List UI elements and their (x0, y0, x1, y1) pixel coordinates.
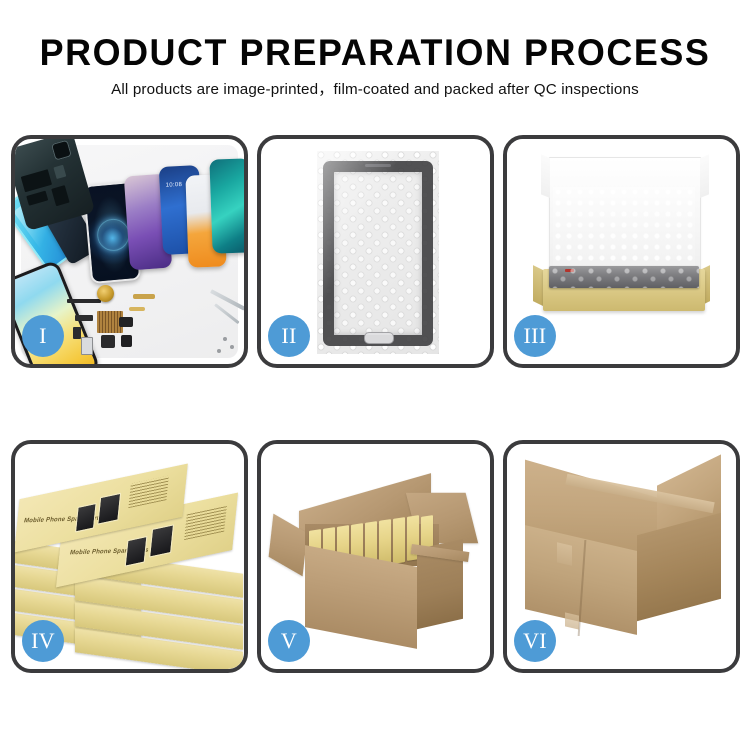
carton-tape-tab-left (557, 542, 572, 565)
step-3-image: III (507, 139, 736, 364)
packed-box-6 (379, 519, 391, 566)
page-subtitle: All products are image-printed，film-coat… (0, 82, 750, 97)
part-flex-cable-1 (67, 299, 101, 303)
part-vibrator (121, 335, 132, 347)
part-connector-b (73, 327, 81, 339)
process-steps-grid: 10:08 (11, 135, 739, 673)
part-connector-a (75, 315, 93, 321)
step-numeral-3: III (524, 325, 547, 347)
step-badge-4: IV (22, 620, 64, 662)
part-screw-1 (223, 337, 227, 341)
carton-tape-tab-bottom (565, 612, 579, 629)
step-6-image: VI (507, 444, 736, 669)
part-button-flex (133, 294, 155, 299)
packed-box-7 (393, 517, 405, 564)
step-badge-2: II (268, 315, 310, 357)
part-red-marker (565, 269, 574, 272)
step-2-image: II (261, 139, 490, 364)
step-1-image: 10:08 (15, 139, 244, 364)
step-numeral-1: I (39, 325, 47, 347)
kraft-box-window-front-1 (125, 536, 148, 567)
kraft-box-window-top-1 (75, 503, 97, 533)
part-coil (97, 285, 114, 302)
part-camera-module (119, 317, 133, 327)
step-panel-1[interactable]: 10:08 (11, 135, 248, 368)
part-side-key (129, 307, 145, 311)
bubble-wrap-sheet (317, 151, 439, 354)
step-numeral-4: IV (31, 630, 55, 652)
foam-liner (553, 187, 695, 271)
step-panel-3[interactable]: III (503, 135, 740, 368)
step-panel-2[interactable]: II (257, 135, 494, 368)
step-badge-5: V (268, 620, 310, 662)
phone-teal (209, 158, 244, 253)
wrapped-screen-assembly (323, 161, 433, 346)
packed-screen-part (549, 266, 699, 288)
header: PRODUCT PREPARATION PROCESS All products… (0, 0, 750, 97)
step-numeral-2: II (281, 325, 296, 347)
step-badge-6: VI (514, 620, 556, 662)
step-panel-4[interactable]: Mobile Phone Spare Parts Mobile Phone Sp… (11, 440, 248, 673)
part-screw-3 (217, 349, 221, 353)
kraft-box-window-front-2 (149, 524, 174, 557)
page-title: PRODUCT PREPARATION PROCESS (11, 34, 739, 71)
step-badge-3: III (514, 315, 556, 357)
part-screw-2 (230, 345, 234, 349)
step-panel-6[interactable]: VI (503, 440, 740, 673)
part-speaker (101, 335, 115, 348)
step-panel-5[interactable]: V (257, 440, 494, 673)
part-sim-tray (81, 337, 93, 355)
step-5-image: V (261, 444, 490, 669)
step-numeral-6: VI (523, 630, 547, 652)
step-badge-1: I (22, 315, 64, 357)
kraft-box-window-top-2 (97, 493, 121, 525)
step-numeral-5: V (281, 630, 297, 652)
product-preparation-infographic: PRODUCT PREPARATION PROCESS All products… (0, 0, 750, 750)
step-4-image: Mobile Phone Spare Parts Mobile Phone Sp… (15, 444, 244, 669)
